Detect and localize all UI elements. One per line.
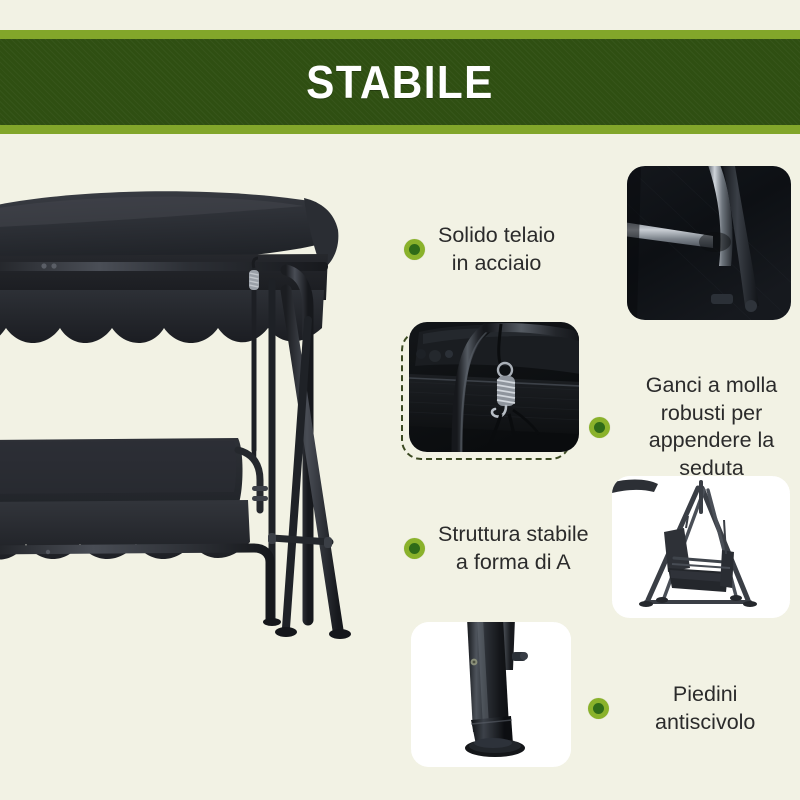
infographic-canvas: STABILE [0,0,800,800]
feature-label: Solido telaio in acciaio [438,222,555,277]
feature-label: Piedini antiscivolo [655,681,755,736]
hero-product-image [0,150,396,770]
bullet-dot-icon [589,417,610,438]
feature-label: Ganci a molla robusti per appendere la s… [623,372,800,482]
header-banner: STABILE [0,30,800,134]
page-title: STABILE [306,59,494,105]
callout-a-frame-side-view [612,476,790,618]
bullet-dot-icon [588,698,609,719]
feature-solido-telaio: Solido telaio in acciaio [404,222,555,277]
bullet-dot-icon [404,239,425,260]
callout-spring-hook [409,322,579,452]
bullet-dot-icon [404,538,425,559]
feature-ganci-a-molla: Ganci a molla robusti per appendere la s… [589,372,800,482]
feature-struttura-a: Struttura stabile a forma di A [404,521,589,576]
callout-steel-frame-joint [627,166,791,320]
feature-label: Struttura stabile a forma di A [438,521,589,576]
callout-anti-slip-foot [411,622,571,767]
feature-piedini-antiscivolo: Piedini antiscivolo [588,681,755,736]
